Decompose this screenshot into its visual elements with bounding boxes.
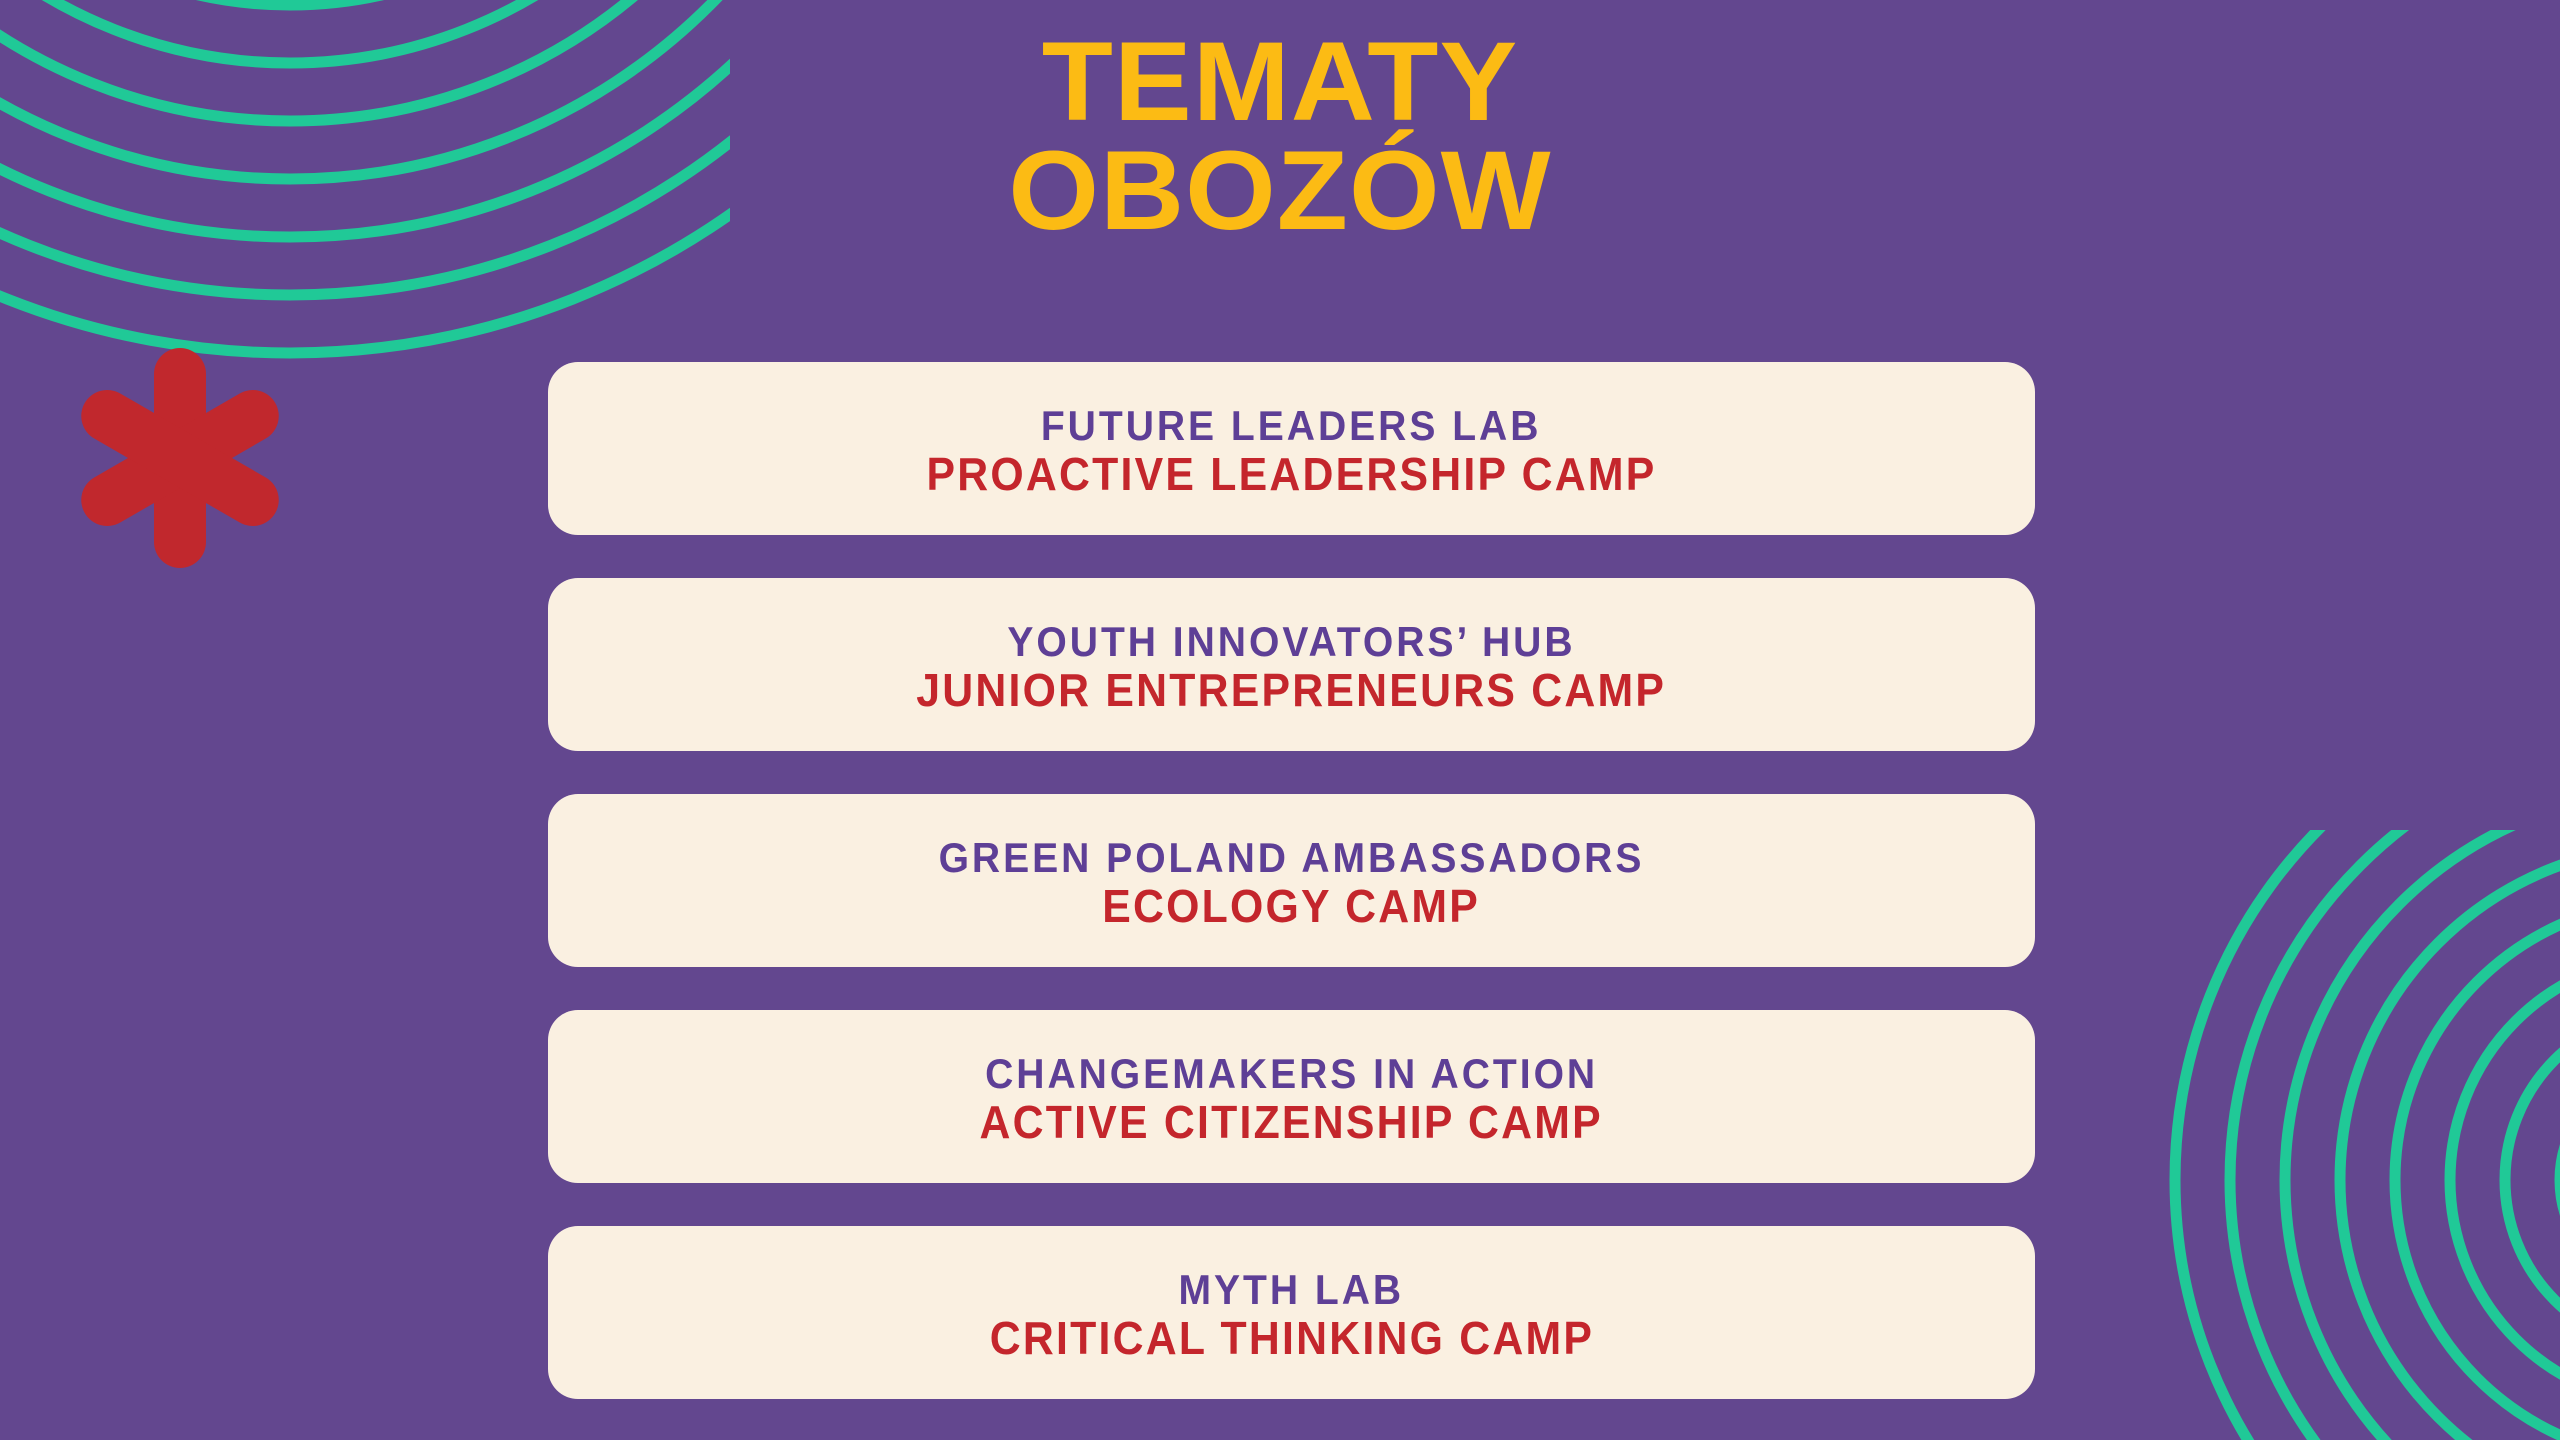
camp-card-title: FUTURE LEADERS LAB [1041,402,1542,449]
camp-card[interactable]: FUTURE LEADERS LAB PROACTIVE LEADERSHIP … [548,362,2035,535]
camp-card[interactable]: YOUTH INNOVATORS’ HUB JUNIOR ENTREPRENEU… [548,578,2035,751]
camp-card-subtitle: JUNIOR ENTREPRENEURS CAMP [917,665,1667,717]
poster-canvas: TEMATY OBOZÓW FUTURE LEADERS LAB PROACTI… [0,0,2560,1440]
camp-card-title: CHANGEMAKERS IN ACTION [985,1050,1598,1097]
page-title: TEMATY OBOZÓW [0,28,2560,245]
camp-list: FUTURE LEADERS LAB PROACTIVE LEADERSHIP … [548,362,2035,1399]
asterisk-flower-icon [60,340,300,570]
camp-card[interactable]: MYTH LAB CRITICAL THINKING CAMP [548,1226,2035,1399]
camp-card-subtitle: PROACTIVE LEADERSHIP CAMP [926,449,1656,501]
camp-card-title: GREEN POLAND AMBASSADORS [939,834,1645,881]
camp-card[interactable]: GREEN POLAND AMBASSADORS ECOLOGY CAMP [548,794,2035,967]
camp-card-subtitle: ECOLOGY CAMP [1103,881,1481,933]
camp-card-title: YOUTH INNOVATORS’ HUB [1007,618,1575,665]
page-title-line-1: TEMATY [0,28,2560,137]
page-title-line-2: OBOZÓW [0,137,2560,246]
camp-card[interactable]: CHANGEMAKERS IN ACTION ACTIVE CITIZENSHI… [548,1010,2035,1183]
camp-card-title: MYTH LAB [1179,1266,1405,1313]
concentric-arcs-bottom-right-icon [2120,830,2560,1440]
camp-card-subtitle: ACTIVE CITIZENSHIP CAMP [980,1097,1603,1149]
camp-card-subtitle: CRITICAL THINKING CAMP [989,1313,1593,1365]
